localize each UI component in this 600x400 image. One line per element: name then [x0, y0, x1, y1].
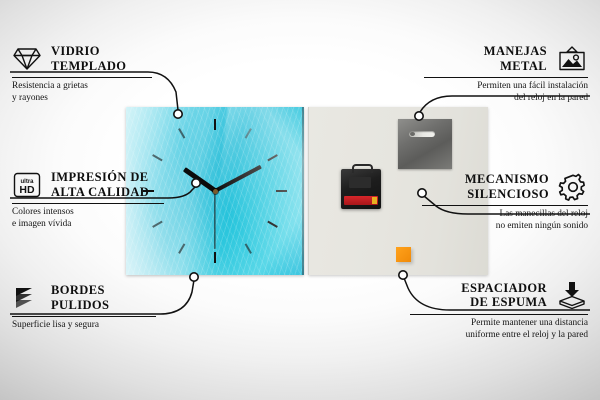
feature-title-line1: VIDRIO [51, 44, 126, 59]
callout-dot-espaciador [399, 271, 407, 279]
feature-title-line1: ESPACIADOR [461, 281, 547, 296]
feature-title-line2: METAL [484, 59, 547, 74]
feature-divider [12, 77, 152, 78]
foam-spacer-icon [556, 280, 588, 310]
feature-title-line1: IMPRESIÓN DE [51, 170, 149, 185]
feature-title: MECANISMO SILENCIOSO [465, 172, 549, 201]
feature-espaciador-espuma: ESPACIADOR DE ESPUMA Permite mantener un… [410, 280, 588, 341]
ultra-hd-icon: ultra HD [12, 171, 42, 199]
feature-title-line2: DE ESPUMA [461, 295, 547, 310]
feature-description: Las manecillas del reloj no emiten ningú… [422, 209, 588, 232]
feature-title: ESPACIADOR DE ESPUMA [461, 281, 547, 310]
feature-title: MANEJAS METAL [484, 44, 547, 73]
feature-bordes-pulidos: BORDES PULIDOS Superficie lisa y segura [12, 283, 156, 332]
feature-divider [422, 205, 588, 206]
feature-divider [424, 77, 588, 78]
feature-divider [410, 314, 588, 315]
feature-mecanismo-silencioso: MECANISMO SILENCIOSO Las manecillas del … [422, 172, 588, 232]
feature-vidrio-templado: VIDRIO TEMPLADO Resistencia a grietas y … [12, 44, 152, 104]
feature-manejas-metal: MANEJAS METAL Permiten una fácil instala… [424, 44, 588, 104]
feature-description: Resistencia a grietas y rayones [12, 81, 152, 104]
feature-title-line2: PULIDOS [51, 298, 109, 313]
feature-header: MECANISMO SILENCIOSO [422, 172, 588, 201]
diamond-icon [12, 46, 42, 72]
callout-dot-impresion [192, 179, 200, 187]
feature-title-line2: ALTA CALIDAD [51, 185, 149, 200]
feature-title-line1: BORDES [51, 283, 109, 298]
callout-dot-bordes [190, 273, 198, 281]
feature-impresion-alta-calidad: ultra HD IMPRESIÓN DE ALTA CALIDAD Color… [12, 170, 164, 230]
feature-divider [12, 316, 156, 317]
callout-dot-vidrio [174, 110, 182, 118]
feature-title-line2: SILENCIOSO [465, 187, 549, 202]
infographic-canvas: VIDRIO TEMPLADO Resistencia a grietas y … [0, 0, 600, 400]
feature-title-line2: TEMPLADO [51, 59, 126, 74]
picture-frame-hanger-icon [556, 45, 588, 73]
feature-description: Superficie lisa y segura [12, 320, 156, 332]
feature-description: Colores intensos e imagen vívida [12, 207, 164, 230]
feature-title: BORDES PULIDOS [51, 283, 109, 312]
polished-edges-icon [12, 285, 42, 311]
feature-title: IMPRESIÓN DE ALTA CALIDAD [51, 170, 149, 199]
gear-icon [558, 173, 588, 201]
feature-header: BORDES PULIDOS [12, 283, 156, 312]
feature-header: MANEJAS METAL [424, 44, 588, 73]
feature-header: VIDRIO TEMPLADO [12, 44, 152, 73]
feature-title-line1: MANEJAS [484, 44, 547, 59]
feature-divider [12, 203, 164, 204]
feature-title: VIDRIO TEMPLADO [51, 44, 126, 73]
hd-label: HD [19, 184, 35, 196]
callout-dot-manejas [415, 112, 423, 120]
feature-title-line1: MECANISMO [465, 172, 549, 187]
feature-description: Permiten una fácil instalación del reloj… [424, 81, 588, 104]
feature-header: ESPACIADOR DE ESPUMA [410, 280, 588, 310]
feature-description: Permite mantener una distancia uniforme … [410, 318, 588, 341]
feature-header: ultra HD IMPRESIÓN DE ALTA CALIDAD [12, 170, 164, 199]
